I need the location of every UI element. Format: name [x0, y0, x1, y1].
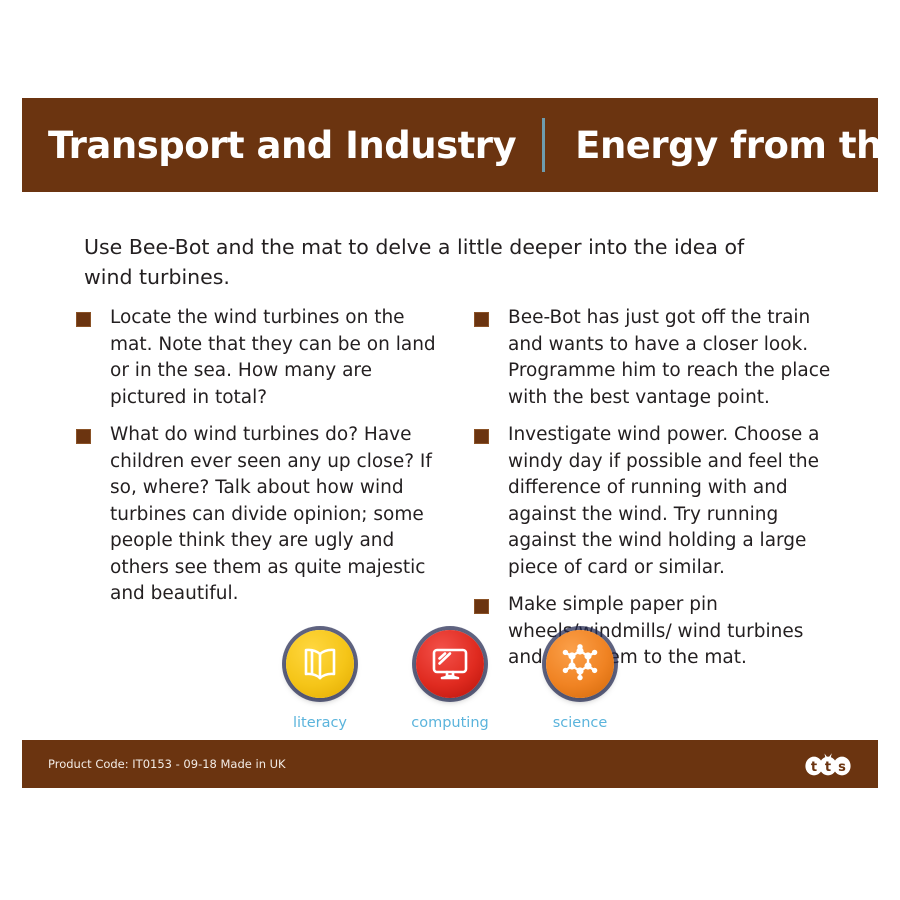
badge-label: science: [553, 715, 608, 731]
list-item: Bee-Bot has just got off the train and w…: [474, 305, 834, 411]
svg-text:s: s: [838, 760, 846, 775]
literacy-badge-circle: [286, 630, 354, 698]
intro-paragraph: Use Bee-Bot and the mat to delve a littl…: [84, 232, 764, 292]
bullet-square-icon: [474, 599, 489, 614]
product-code-text: Product Code: IT0153 - 09-18 Made in UK: [48, 757, 286, 771]
bullet-square-icon: [76, 312, 91, 327]
header-inner: Transport and Industry Energy from the W…: [22, 118, 878, 172]
svg-text:t: t: [825, 760, 831, 775]
open-book-icon: [300, 645, 340, 683]
list-item: Locate the wind turbines on the mat. Not…: [76, 305, 436, 411]
subject-badges: literacy computing: [0, 630, 900, 731]
bullet-text: Bee-Bot has just got off the train and w…: [508, 305, 834, 411]
subject-badge-literacy: literacy: [270, 630, 370, 731]
bullet-square-icon: [76, 429, 91, 444]
list-item: Investigate wind power. Choose a windy d…: [474, 422, 834, 581]
page-title-subject: Energy from the Wind: [575, 124, 900, 167]
footer-bar: Product Code: IT0153 - 09-18 Made in UK …: [22, 740, 878, 788]
bullet-text: Investigate wind power. Choose a windy d…: [508, 422, 834, 581]
worksheet-page: Transport and Industry Energy from the W…: [0, 0, 900, 900]
molecule-icon: [559, 644, 601, 684]
bullet-text: Locate the wind turbines on the mat. Not…: [110, 305, 436, 411]
title-divider: [542, 118, 545, 172]
activity-columns: Locate the wind turbines on the mat. Not…: [76, 305, 836, 683]
activity-column-right: Bee-Bot has just got off the train and w…: [474, 305, 834, 683]
svg-text:t: t: [811, 760, 817, 775]
bullet-square-icon: [474, 429, 489, 444]
list-item: What do wind turbines do? Have children …: [76, 422, 436, 608]
activity-column-left: Locate the wind turbines on the mat. Not…: [76, 305, 436, 683]
badge-label: literacy: [293, 715, 347, 731]
tts-logo: t t s: [804, 751, 852, 777]
monitor-icon: [429, 645, 471, 683]
subject-badge-science: science: [530, 630, 630, 731]
subject-badge-computing: computing: [400, 630, 500, 731]
page-title-topic: Transport and Industry: [48, 124, 516, 167]
header-bar: Transport and Industry Energy from the W…: [22, 98, 878, 192]
bullet-text: What do wind turbines do? Have children …: [110, 422, 436, 608]
bullet-square-icon: [474, 312, 489, 327]
computing-badge-circle: [416, 630, 484, 698]
badge-label: computing: [411, 715, 488, 731]
science-badge-circle: [546, 630, 614, 698]
